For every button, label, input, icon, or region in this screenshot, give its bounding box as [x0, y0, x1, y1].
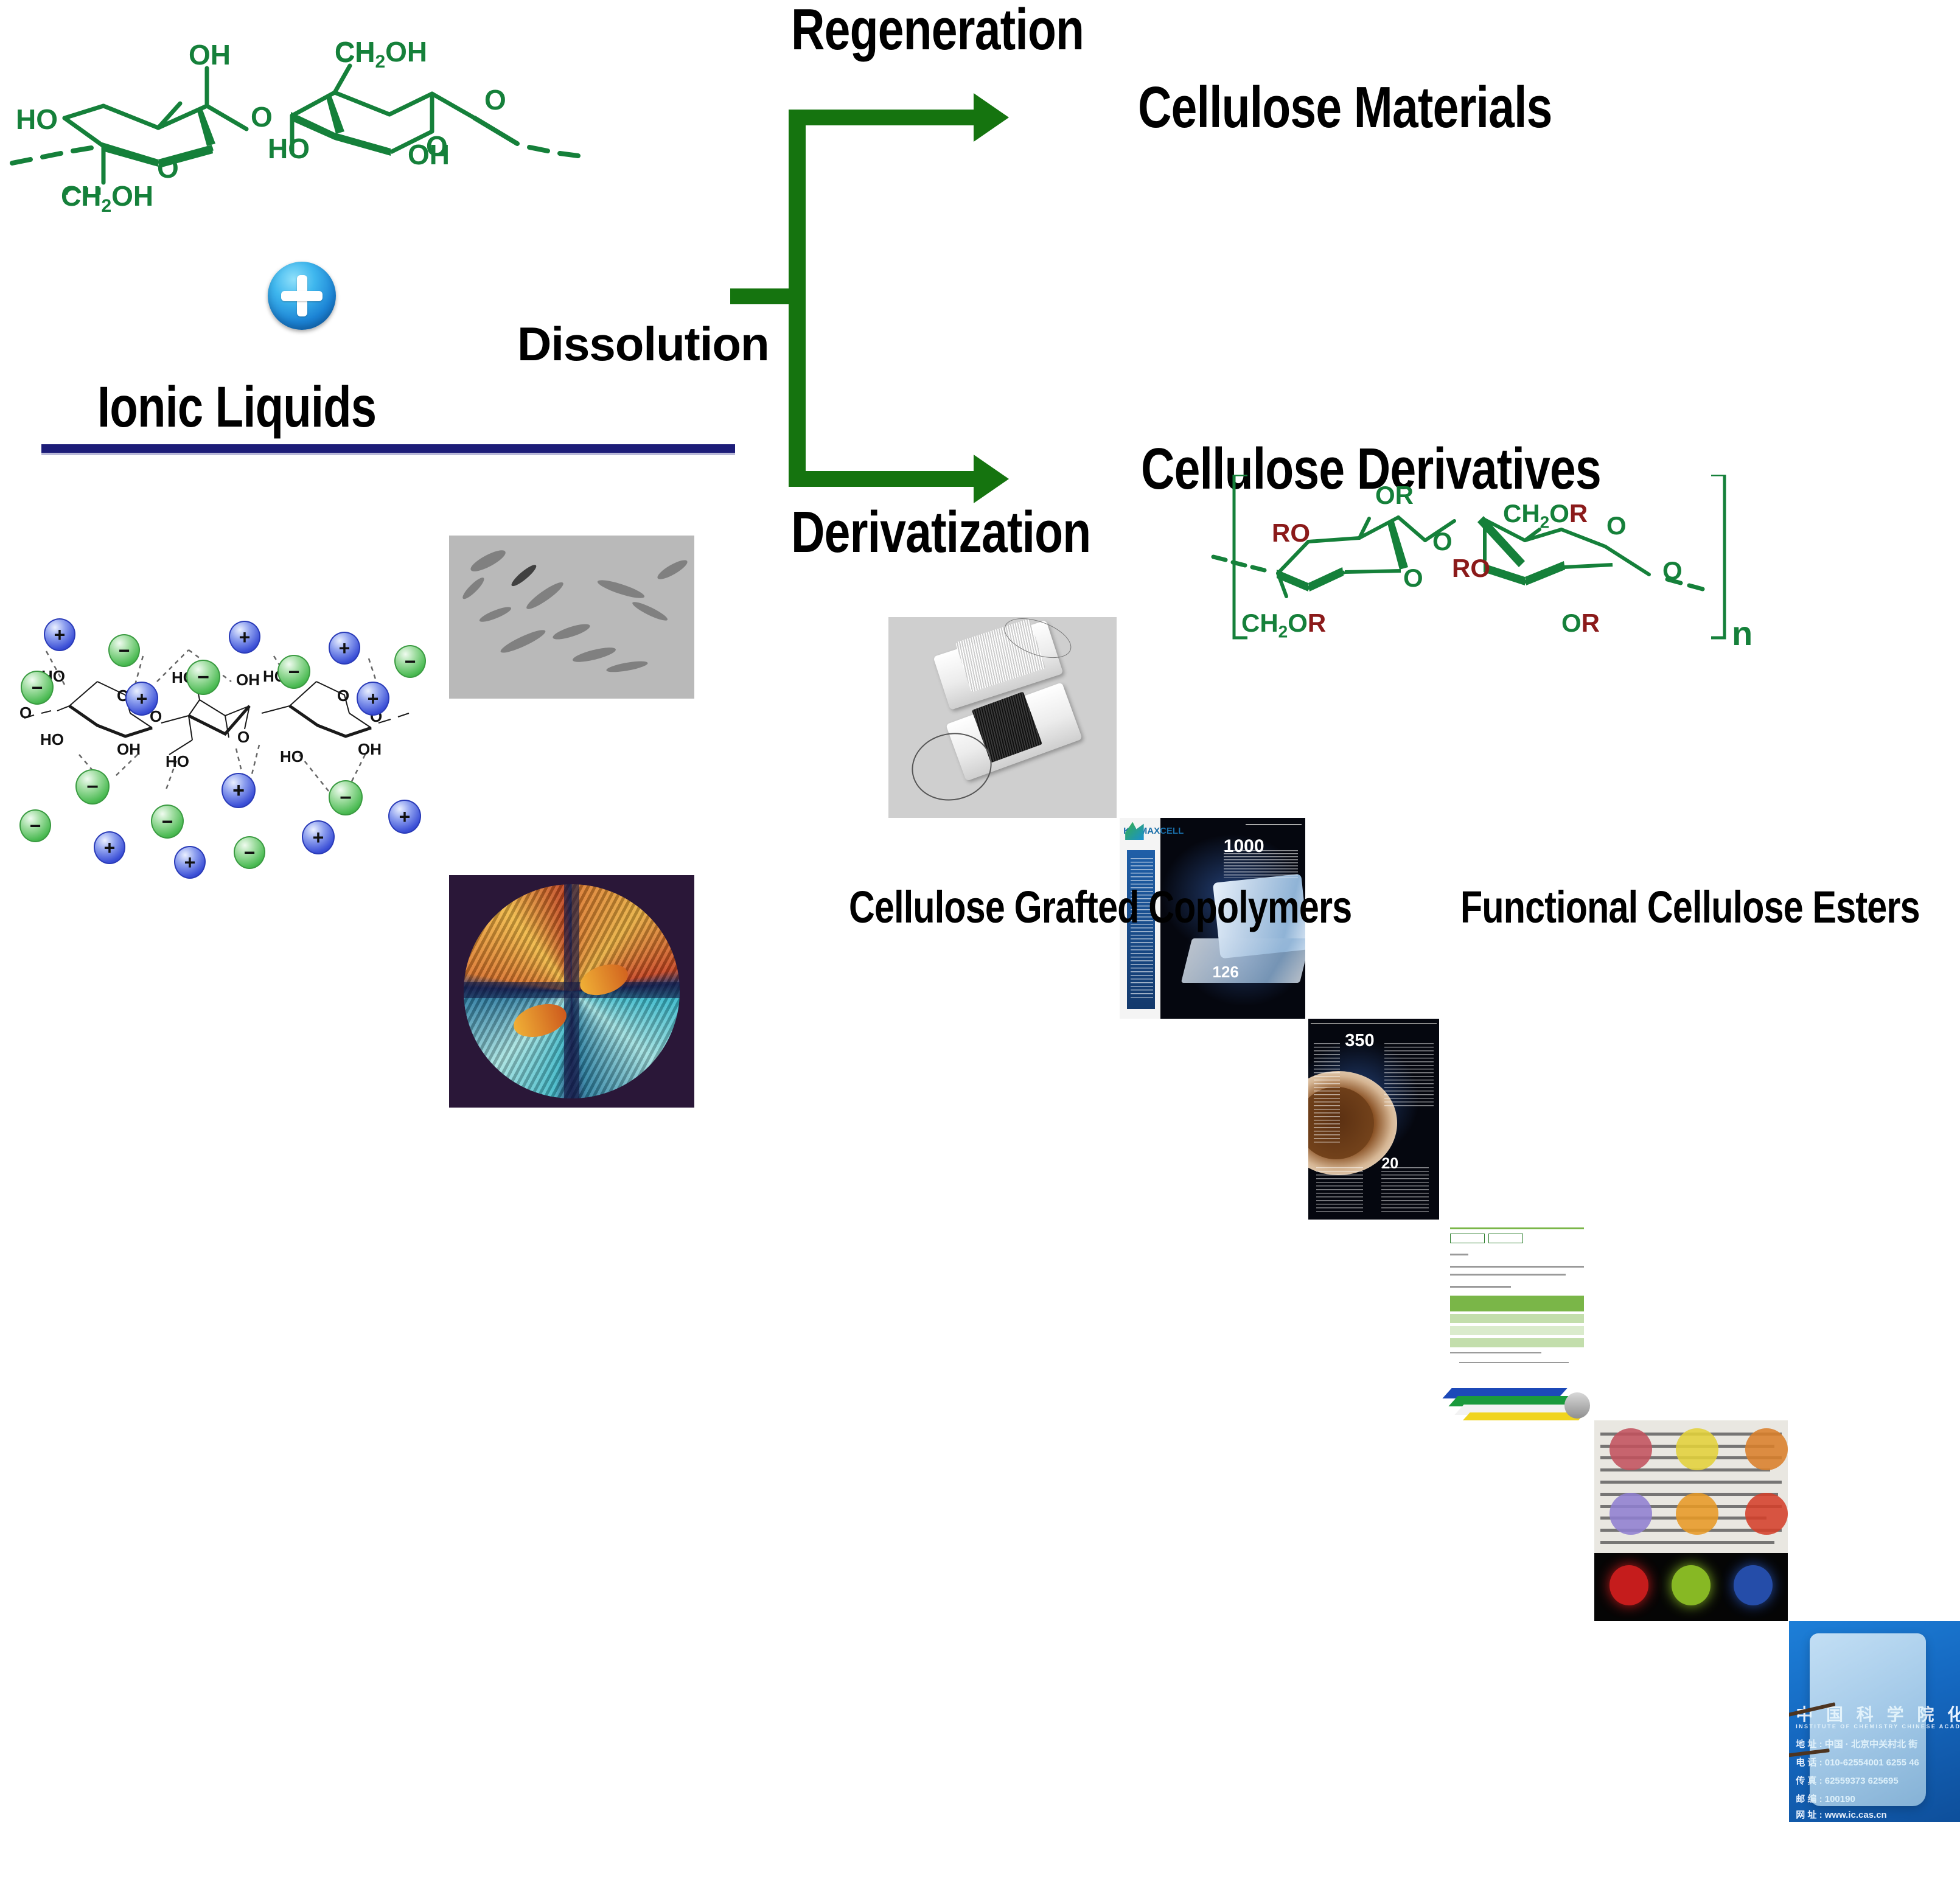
plus-icon [268, 262, 336, 330]
mol-label-o-end: O [484, 84, 506, 116]
deriv-label-ch2or-top: CH2OR [1503, 499, 1588, 532]
arrow-branch-upper [789, 110, 977, 125]
deriv-label-or-1: OR [1375, 481, 1414, 509]
brochure-number-350: 350 [1345, 1031, 1374, 1051]
colored-tape-datasheet-image [1441, 1220, 1593, 1420]
porphyrin-vial-orange-tr [1745, 1428, 1788, 1470]
heading-regeneration: Regeneration [791, 0, 1084, 63]
deriv-label-ro-1: RO [1272, 518, 1310, 547]
ion-cation: + [174, 846, 206, 879]
caption-functional-esters: Functional Cellulose Esters [1460, 881, 1920, 933]
ion-cation: + [125, 682, 158, 716]
glow-green [1672, 1565, 1711, 1605]
mol-label-ho-2: HO [268, 133, 310, 164]
deriv-label-o-ring2: O [1606, 511, 1627, 540]
ion-anion: − [19, 809, 51, 842]
cellulose-molecule: HO OH CH O HO CH OH O O O [6, 37, 615, 195]
svg-text:O: O [19, 703, 32, 722]
glow-red [1610, 1565, 1648, 1605]
mol-label-ch2oh-1-text: CH2OH [61, 180, 153, 217]
ion-cation: + [329, 632, 360, 665]
cellulose-fiber-spools-image [888, 617, 1117, 818]
mol-label-o-ring1: O [157, 152, 179, 184]
heading-dissolution: Dissolution [517, 316, 769, 372]
brochure-number-126: 126 [1213, 963, 1239, 982]
svg-text:O: O [237, 728, 249, 746]
caption-grafted-copolymers: Cellulose Grafted Copolymers [849, 881, 1351, 933]
deriv-label-ch2or-bottom: CH2OR [1241, 609, 1326, 641]
deriv-label-o-end: O [1662, 556, 1683, 585]
ion-cation: + [388, 800, 421, 834]
mol-label-ho-1: HO [16, 103, 58, 135]
mol-label-o-ring2: O [426, 130, 448, 162]
porphyrin-vial-red [1610, 1428, 1652, 1470]
arrow-head-regeneration [974, 93, 1009, 142]
ion-anion: − [151, 805, 184, 839]
ion-cation: + [357, 682, 389, 716]
ion-anion: − [186, 660, 220, 695]
svg-text:OH: OH [236, 671, 260, 689]
mol-label-oh-1: OH [189, 39, 231, 71]
tem-nanocrystals-image [449, 536, 694, 699]
porphyrin-vial-yellow [1676, 1428, 1718, 1470]
ion-anion: − [329, 780, 363, 815]
arrow-trunk-vertical [789, 110, 806, 487]
ion-cation: + [302, 820, 335, 854]
svg-text:HO: HO [280, 747, 304, 766]
porphyrin-vial-darkred [1745, 1493, 1788, 1535]
ionic-liquids-underline [41, 444, 735, 455]
porphyrin-vial-purple [1610, 1493, 1652, 1535]
svg-text:HO: HO [40, 730, 64, 749]
polarized-light-micrograph-image [449, 875, 694, 1108]
ion-anion: − [108, 634, 140, 667]
svg-text:OH: OH [358, 740, 382, 758]
arrow-branch-lower [789, 471, 977, 487]
deriv-label-or-bottom: OR [1561, 609, 1600, 638]
deriv-label-o-link: O [1432, 527, 1453, 556]
ion-anion: − [75, 769, 110, 805]
mol-label-o-link: O [251, 101, 273, 133]
ion-cation: + [229, 621, 260, 654]
glow-blue [1734, 1565, 1773, 1605]
arrow-stem-horizontal [730, 288, 797, 304]
ion-cation: + [94, 831, 125, 864]
arrow-head-derivatization [974, 455, 1009, 503]
deriv-label-o-ring1: O [1403, 564, 1423, 592]
ion-anion: − [21, 671, 54, 705]
ionic-liquid-diagram: HOO O HOOH HOOH OHO HOO O HOOH O + − − +… [6, 499, 432, 876]
deriv-label-ro-2: RO [1452, 554, 1490, 582]
svg-text:HO: HO [166, 752, 189, 770]
heading-ionic-liquids: Ionic Liquids [97, 374, 376, 441]
ion-anion: − [277, 655, 310, 689]
cellulose-film-roll-brochure-image: 350 60 20 [1308, 1019, 1439, 1220]
heading-derivatization: Derivatization [791, 499, 1090, 566]
deriv-bracket-subscript-n: n [1732, 613, 1752, 653]
ion-cation: + [221, 773, 256, 808]
ion-cation: + [44, 618, 75, 651]
porphyrin-vial-amber [1676, 1493, 1718, 1535]
mol-label-ch2oh-2-text: CH2OH [335, 35, 427, 72]
porphyrin-vials-text-image [1594, 1420, 1788, 1621]
card-line-web: 网 址 : www.ic.cas.cn [1796, 1808, 1887, 1821]
ion-anion: − [234, 836, 265, 869]
ion-anion: − [394, 645, 426, 678]
regenerated-cellulose-film [1810, 1633, 1926, 1806]
transparent-film-on-card-image: 中 国 科 学 院 化 学 研 INSTITUTE OF CHEMISTRY C… [1789, 1621, 1960, 1822]
svg-text:OH: OH [117, 740, 141, 758]
heading-cellulose-materials: Cellulose Materials [1138, 74, 1552, 141]
svg-text:O: O [337, 686, 349, 705]
